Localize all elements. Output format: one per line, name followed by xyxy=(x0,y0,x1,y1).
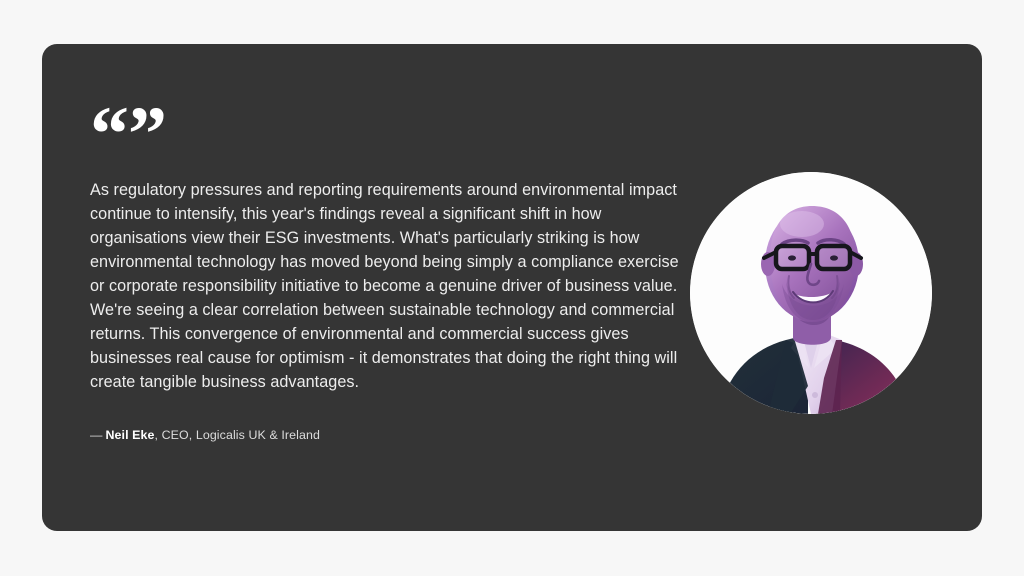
quote-content: “” As regulatory pressures and reporting… xyxy=(90,110,690,444)
attribution: —Neil Eke, CEO, Logicalis UK & Ireland xyxy=(90,394,690,444)
attribution-dash: — xyxy=(90,428,106,442)
attribution-role: , CEO, Logicalis UK & Ireland xyxy=(155,428,320,442)
testimonial-card: “” As regulatory pressures and reporting… xyxy=(42,44,982,531)
quote-text: As regulatory pressures and reporting re… xyxy=(90,158,690,394)
quote-mark-icon: “” xyxy=(90,110,690,158)
attribution-name: Neil Eke xyxy=(106,428,155,442)
slide-canvas: “” As regulatory pressures and reporting… xyxy=(0,0,1024,576)
portrait-illustration xyxy=(690,172,932,414)
avatar xyxy=(690,172,932,414)
